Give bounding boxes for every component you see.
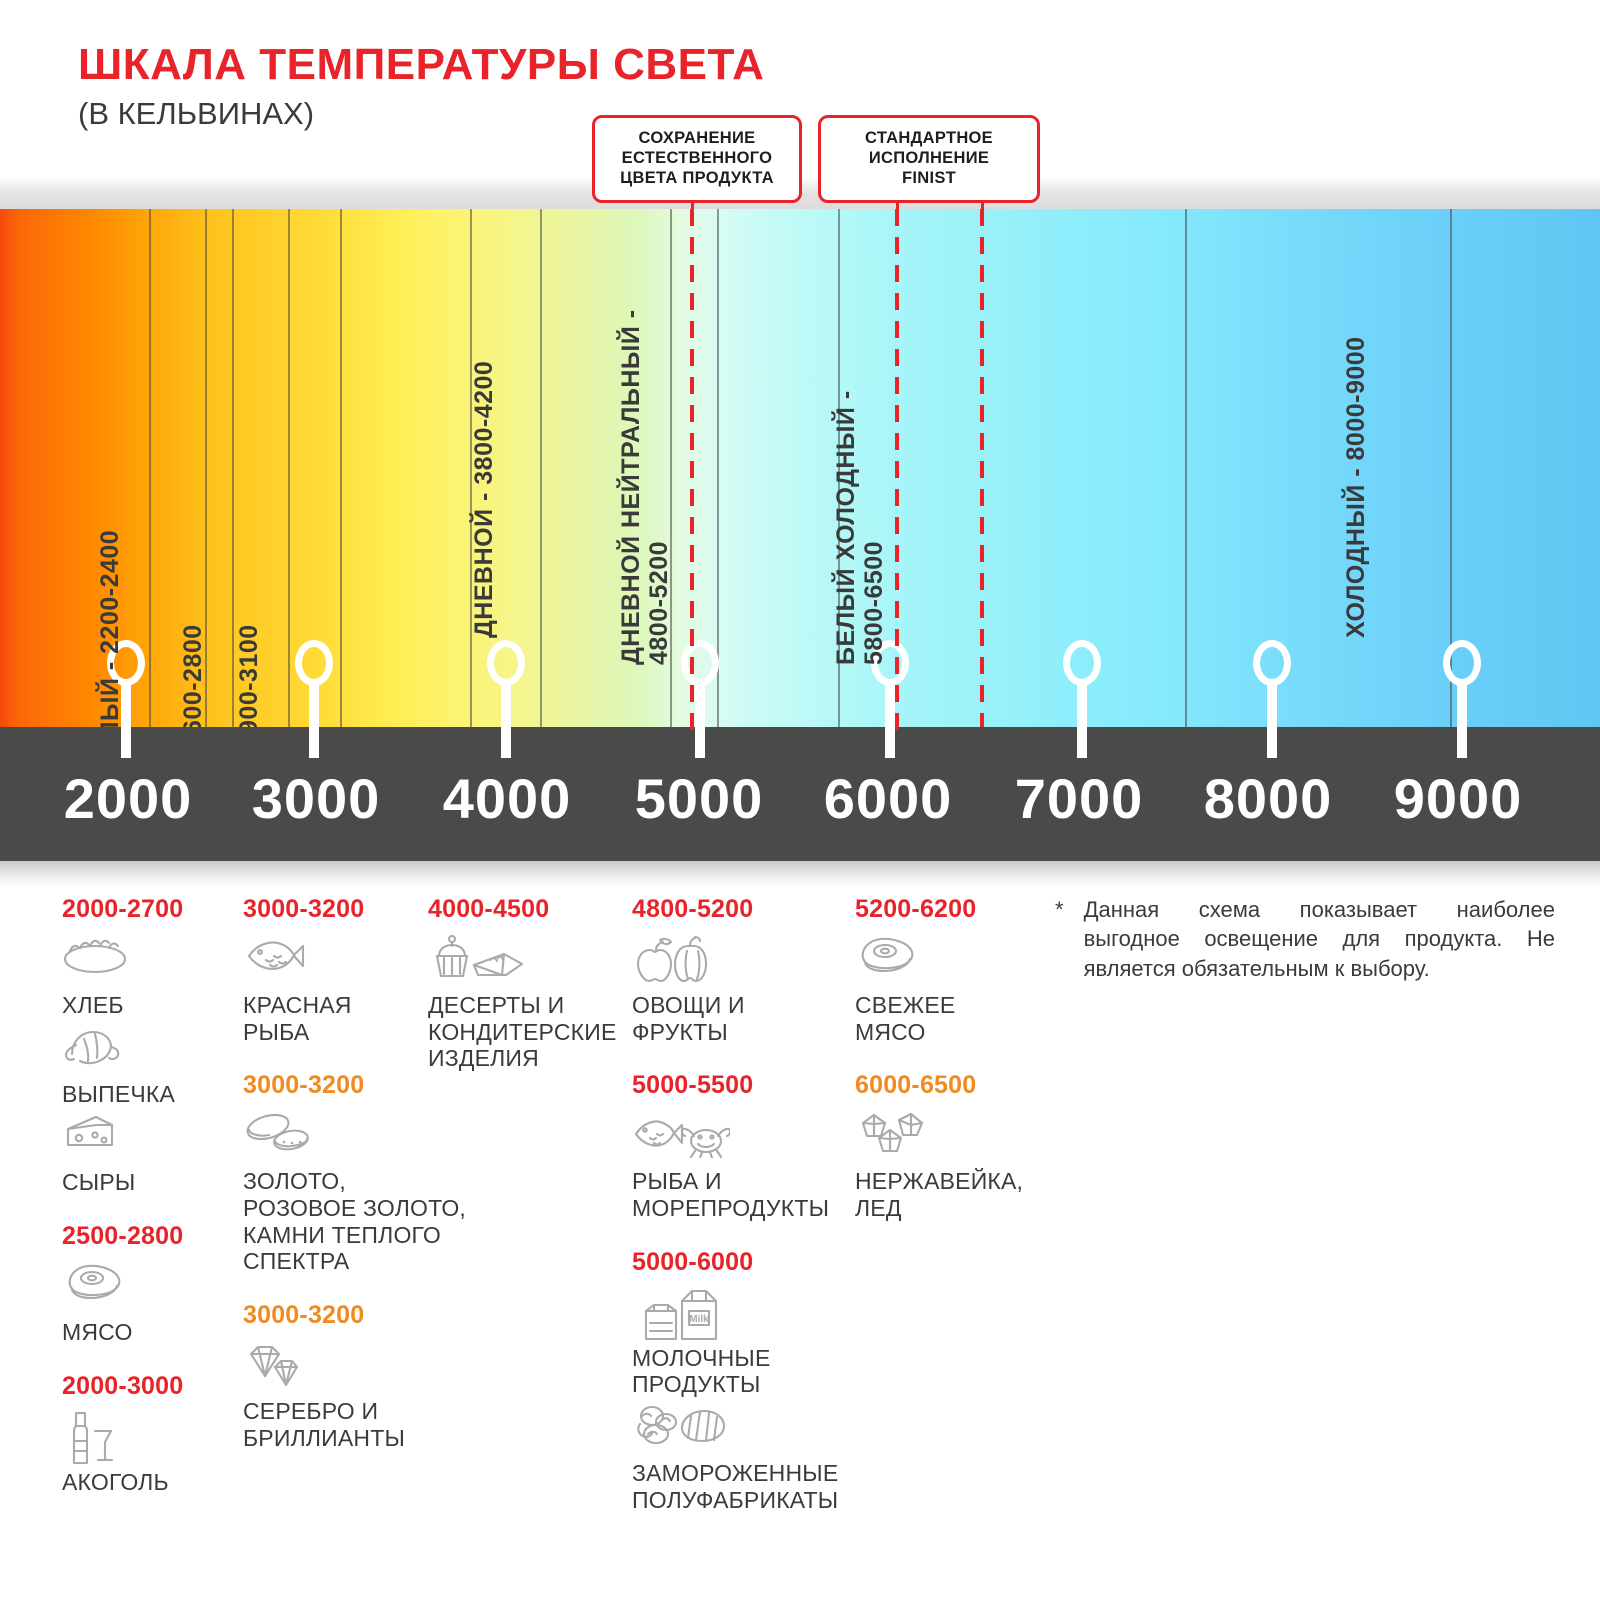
band-label-warm-3000-line1: ТЕПЛЫЙ - 2900-3100 [235,624,263,727]
callout-finist-standard-text: СТАНДАРТНОЕ ИСПОЛНЕНИЕ FINIST [865,129,993,187]
legend-group: 2000-2700ХЛЕБВЫПЕЧКАСЫРЫ [62,895,242,1196]
legend-item: ЗОЛОТО, РОЗОВОЕ ЗОЛОТО, КАМНИ ТЕПЛОГО СП… [243,1110,483,1275]
tick-label-5000: 5000 [635,766,764,831]
legend-column-5: 5200-6200СВЕЖЕЕ МЯСО6000-6500НЕРЖАВЕЙКА,… [855,895,1040,1248]
band-label-daylight: ДНЕВНОЙ - 3800-4200 [470,361,499,638]
milk-carton-icon: Milk [632,1287,850,1343]
frozen-food-icon [632,1402,850,1458]
band-label-warm-3000-line2: (тип К 3000) [263,624,291,727]
tick-label-3000: 3000 [252,766,381,831]
legend-item: СЕРЕБРО И БРИЛЛИАНТЫ [243,1340,483,1451]
legend-group: 5000-5500РЫБА И МОРЕПРОДУКТЫ [632,1071,850,1221]
rings-icon [243,1110,483,1166]
tick-label-7000: 7000 [1015,766,1144,831]
fish-crab-icon [632,1110,850,1166]
band-label-daylight-neutral: ДНЕВНОЙ НЕЙТРАЛЬНЫЙ - 4800-5200 [617,309,673,665]
marker-stem [501,680,511,758]
legend-range-label: 3000-3200 [243,1301,483,1330]
cheese-icon [62,1111,242,1167]
callout-finist-standard: СТАНДАРТНОЕ ИСПОЛНЕНИЕ FINIST [818,115,1040,203]
legend-item-label: РЫБА И МОРЕПРОДУКТЫ [632,1168,850,1221]
scale-bar [0,727,1600,861]
bottle-glass-icon [62,1411,242,1467]
legend-group: 2500-2800МЯСО [62,1222,242,1346]
band-divider [340,209,342,727]
legend-group: 6000-6500НЕРЖАВЕЙКА, ЛЕД [855,1071,1040,1221]
legend-group: 2000-3000АКОГОЛЬ [62,1372,242,1496]
marker-stem [1077,680,1087,758]
legend-item-label: МОЛОЧНЫЕ ПРОДУКТЫ [632,1345,850,1398]
legend-item: ДЕСЕРТЫ И КОНДИТЕРСКИЕ ИЗДЕЛИЯ [428,934,623,1072]
legend-range-label: 2000-3000 [62,1372,242,1401]
legend-range-label: 2000-2700 [62,895,242,924]
tick-label-2000: 2000 [64,766,193,831]
band-divider [717,209,719,727]
legend-item-label: ХЛЕБ [62,992,242,1019]
legend-item: МЯСО [62,1261,242,1346]
marker-stem [1267,680,1277,758]
band-divider [540,209,542,727]
legend-group: 3000-3200СЕРЕБРО И БРИЛЛИАНТЫ [243,1301,483,1451]
band-label-cold: ХОЛОДНЫЙ - 8000-9000 [1342,336,1371,638]
band-label-daylight-neutral-line2: 4800-5200 [645,309,673,665]
red-dash-6000 [895,209,899,734]
marker-stem [309,680,319,758]
legend-range-label: 5200-6200 [855,895,1040,924]
footnote: * Данная схема показывает наиболее выгод… [1055,895,1555,983]
band-label-cold-line1: ХОЛОДНЫЙ - 8000-9000 [1342,336,1371,638]
legend-range-label: 4800-5200 [632,895,850,924]
legend-group: 3000-3200ЗОЛОТО, РОЗОВОЕ ЗОЛОТО, КАМНИ Т… [243,1071,483,1275]
legend-item: ОВОЩИ И ФРУКТЫ [632,934,850,1045]
marker-stem [885,680,895,758]
legend-item-label: СЫРЫ [62,1169,242,1196]
legend-range-label: 5000-6000 [632,1248,850,1277]
legend-item: ВЫПЕЧКА [62,1023,242,1108]
color-temperature-band: СУПЕР ТЕПЛЫЙ - 2200-2400 (тип К 2400) ТЕ… [0,209,1600,727]
steak-icon [62,1261,242,1317]
cupcake-cake-icon [428,934,623,990]
tick-label-4000: 4000 [443,766,572,831]
legend-item-label: ЗАМОРОЖЕННЫЕ ПОЛУФАБРИКАТЫ [632,1460,850,1513]
legend-column-3: 4000-4500ДЕСЕРТЫ И КОНДИТЕРСКИЕ ИЗДЕЛИЯ [428,895,623,1098]
legend-item: СЫРЫ [62,1111,242,1196]
band-label-white-cold: БЕЛЫЙ ХОЛОДНЫЙ - 5800-6500 [832,390,888,665]
page-title: ШКАЛА ТЕМПЕРАТУРЫ СВЕТА [78,40,764,90]
band-label-white-cold-line1: БЕЛЫЙ ХОЛОДНЫЙ - [832,390,860,665]
legend-column-1: 2000-2700ХЛЕБВЫПЕЧКАСЫРЫ2500-2800МЯСО200… [62,895,242,1521]
legend-group: 5000-6000MilkМОЛОЧНЫЕ ПРОДУКТЫЗАМОРОЖЕНН… [632,1248,850,1514]
tick-label-8000: 8000 [1204,766,1333,831]
legend-item: ЗАМОРОЖЕННЫЕ ПОЛУФАБРИКАТЫ [632,1402,850,1513]
band-label-warm-2700: ТЕПЛЫЙ - 2600-2800 (тип К 2700) [179,624,235,727]
legend-column-4: 4800-5200ОВОЩИ И ФРУКТЫ5000-5500РЫБА И М… [632,895,850,1539]
scale-bar-shadow [0,861,1600,887]
band-label-super-warm-line2: (тип К 2400) [124,530,152,727]
legend-item: СВЕЖЕЕ МЯСО [855,934,1040,1045]
legend-group: 4800-5200ОВОЩИ И ФРУКТЫ [632,895,850,1045]
ice-cubes-icon [855,1110,1040,1166]
callout-natural-color: СОХРАНЕНИЕ ЕСТЕСТВЕННОГО ЦВЕТА ПРОДУКТА [592,115,802,203]
footnote-text: Данная схема показывает наиболее выгодно… [1084,895,1555,983]
band-label-daylight-line1: ДНЕВНОЙ - 3800-4200 [470,361,499,638]
marker-stem [1457,680,1467,758]
legend-item: MilkМОЛОЧНЫЕ ПРОДУКТЫ [632,1287,850,1398]
legend-item-label: МЯСО [62,1319,242,1346]
legend-item-label: СВЕЖЕЕ МЯСО [855,992,1040,1045]
legend-item: АКОГОЛЬ [62,1411,242,1496]
band-label-super-warm-line1: СУПЕР ТЕПЛЫЙ - 2200-2400 [96,530,124,727]
page-subtitle: (В КЕЛЬВИНАХ) [78,96,314,132]
legend-range-label: 2500-2800 [62,1222,242,1251]
band-label-daylight-neutral-line1: ДНЕВНОЙ НЕЙТРАЛЬНЫЙ - [617,309,645,665]
tick-label-6000: 6000 [824,766,953,831]
legend-range-label: 4000-4500 [428,895,623,924]
legend-range-label: 6000-6500 [855,1071,1040,1100]
legend-item: НЕРЖАВЕЙКА, ЛЕД [855,1110,1040,1221]
legend-item-label: АКОГОЛЬ [62,1469,242,1496]
legend-item-label: НЕРЖАВЕЙКА, ЛЕД [855,1168,1040,1221]
legend-group: 5200-6200СВЕЖЕЕ МЯСО [855,895,1040,1045]
legend-group: 4000-4500ДЕСЕРТЫ И КОНДИТЕРСКИЕ ИЗДЕЛИЯ [428,895,623,1072]
infographic-root: ШКАЛА ТЕМПЕРАТУРЫ СВЕТА (В КЕЛЬВИНАХ) СО… [0,0,1600,1600]
steak-icon [855,934,1040,990]
svg-text:Milk: Milk [689,1314,709,1325]
band-divider [1185,209,1187,727]
diamond-icon [243,1340,483,1396]
callout-natural-color-text: СОХРАНЕНИЕ ЕСТЕСТВЕННОГО ЦВЕТА ПРОДУКТА [620,129,774,187]
legend-item-label: ОВОЩИ И ФРУКТЫ [632,992,850,1045]
legend-item-label: ЗОЛОТО, РОЗОВОЕ ЗОЛОТО, КАМНИ ТЕПЛОГО СП… [243,1168,483,1275]
legend-item: ХЛЕБ [62,934,242,1019]
croissant-icon [62,1023,242,1079]
band-label-warm-2700-line2: (тип К 2700) [207,624,235,727]
band-label-white-cold-line2: 5800-6500 [860,390,888,665]
legend-item-label: СЕРЕБРО И БРИЛЛИАНТЫ [243,1398,483,1451]
apple-pepper-icon [632,934,850,990]
legend-range-label: 5000-5500 [632,1071,850,1100]
band-label-warm-2700-line1: ТЕПЛЫЙ - 2600-2800 [179,624,207,727]
bread-icon [62,934,242,990]
legend-item-label: ВЫПЕЧКА [62,1081,242,1108]
marker-stem [695,680,705,758]
red-dash-6500 [980,209,984,727]
band-label-super-warm: СУПЕР ТЕПЛЫЙ - 2200-2400 (тип К 2400) [96,530,152,727]
band-label-warm-3000: ТЕПЛЫЙ - 2900-3100 (тип К 3000) [235,624,291,727]
red-dash-4800 [690,209,694,734]
footnote-marker: * [1055,895,1064,983]
legend-item: РЫБА И МОРЕПРОДУКТЫ [632,1110,850,1221]
legend-item-label: ДЕСЕРТЫ И КОНДИТЕРСКИЕ ИЗДЕЛИЯ [428,992,623,1072]
tick-label-9000: 9000 [1394,766,1523,831]
